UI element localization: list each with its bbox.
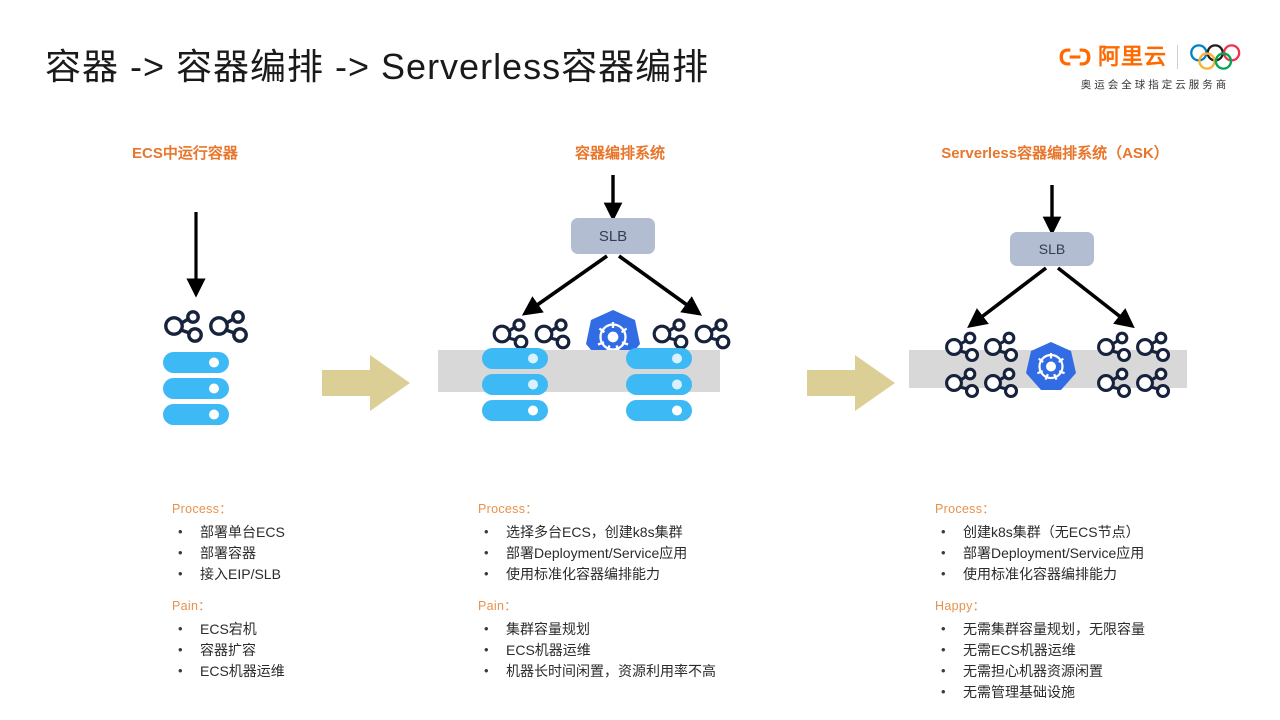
list-item: 部署Deployment/Service应用 — [478, 543, 808, 564]
column-heading: ECS中运行容器 — [132, 142, 238, 163]
server-stack — [482, 348, 548, 421]
slb-node: SLB — [1010, 232, 1094, 266]
list-item: 无需集群容量规划，无限容量 — [935, 619, 1265, 640]
list-item: ECS宕机 — [172, 619, 432, 640]
process-block: Process： 部署单台ECS 部署容器 接入EIP/SLB — [172, 498, 432, 585]
list-item: 无需担心机器资源闲置 — [935, 661, 1265, 682]
container-icon-group — [654, 320, 729, 348]
column-heading: Serverless容器编排系统（ASK） — [865, 142, 1245, 163]
list-item: 部署容器 — [172, 543, 432, 564]
section-label-pain: Pain： — [172, 595, 432, 614]
section-label-process: Process： — [172, 498, 432, 517]
process-block: Process： 选择多台ECS，创建k8s集群 部署Deployment/Se… — [478, 498, 808, 585]
flow-arrow-left — [975, 268, 1046, 322]
happy-list: 无需集群容量规划，无限容量 无需ECS机器运维 无需担心机器资源闲置 无需管理基… — [935, 619, 1265, 703]
list-item: 选择多台ECS，创建k8s集群 — [478, 522, 808, 543]
list-item: 无需管理基础设施 — [935, 682, 1265, 703]
column-container-orchestration: 容器编排系统 SLB — [430, 0, 810, 720]
process-block: Process： 创建k8s集群（无ECS节点） 部署Deployment/Se… — [935, 498, 1265, 585]
list-item: 无需ECS机器运维 — [935, 640, 1265, 661]
slb-node: SLB — [571, 218, 655, 254]
server-stack — [626, 348, 692, 421]
happy-block: Happy： 无需集群容量规划，无限容量 无需ECS机器运维 无需担心机器资源闲… — [935, 595, 1265, 703]
diagram-svg: SLB — [430, 170, 810, 440]
transition-arrow-icon — [320, 352, 412, 414]
flow-arrow-left — [530, 256, 607, 310]
column-heading: 容器编排系统 — [430, 142, 810, 163]
list-item: 机器长时间闲置，资源利用率不高 — [478, 661, 808, 682]
diagram-container-orchestration: SLB — [430, 170, 810, 440]
pain-block: Pain： 集群容量规划 ECS机器运维 机器长时间闲置，资源利用率不高 — [478, 595, 808, 682]
list-item: 容器扩容 — [172, 640, 432, 661]
container-icon-group — [494, 320, 569, 348]
slb-label: SLB — [599, 228, 627, 245]
list-item: ECS机器运维 — [478, 640, 808, 661]
pain-block: Pain： ECS宕机 容器扩容 ECS机器运维 — [172, 595, 432, 682]
list-item: 部署单台ECS — [172, 522, 432, 543]
column-serverless-ask: Serverless容器编排系统（ASK） SLB — [865, 0, 1245, 720]
section-label-process: Process： — [935, 498, 1265, 517]
section-label-process: Process： — [478, 498, 808, 517]
list-item: 创建k8s集群（无ECS节点） — [935, 522, 1265, 543]
process-list: 创建k8s集群（无ECS节点） 部署Deployment/Service应用 使… — [935, 522, 1265, 585]
process-list: 选择多台ECS，创建k8s集群 部署Deployment/Service应用 使… — [478, 522, 808, 585]
section-label-pain: Pain： — [478, 595, 808, 614]
flow-arrow-right — [1058, 268, 1127, 322]
server-stack — [163, 352, 229, 425]
list-item: 集群容量规划 — [478, 619, 808, 640]
list-item: 使用标准化容器编排能力 — [478, 564, 808, 585]
diagram-svg: SLB — [865, 170, 1245, 440]
slb-label: SLB — [1039, 241, 1065, 257]
pain-list: 集群容量规划 ECS机器运维 机器长时间闲置，资源利用率不高 — [478, 619, 808, 682]
diagram-serverless-ask: SLB — [865, 170, 1245, 440]
process-list: 部署单台ECS 部署容器 接入EIP/SLB — [172, 522, 432, 585]
list-item: 部署Deployment/Service应用 — [935, 543, 1265, 564]
section-label-happy: Happy： — [935, 595, 1265, 614]
container-icon-group — [166, 312, 246, 341]
list-item: 接入EIP/SLB — [172, 564, 432, 585]
list-item: ECS机器运维 — [172, 661, 432, 682]
list-item: 使用标准化容器编排能力 — [935, 564, 1265, 585]
flow-arrow-right — [619, 256, 694, 310]
pain-list: ECS宕机 容器扩容 ECS机器运维 — [172, 619, 432, 682]
